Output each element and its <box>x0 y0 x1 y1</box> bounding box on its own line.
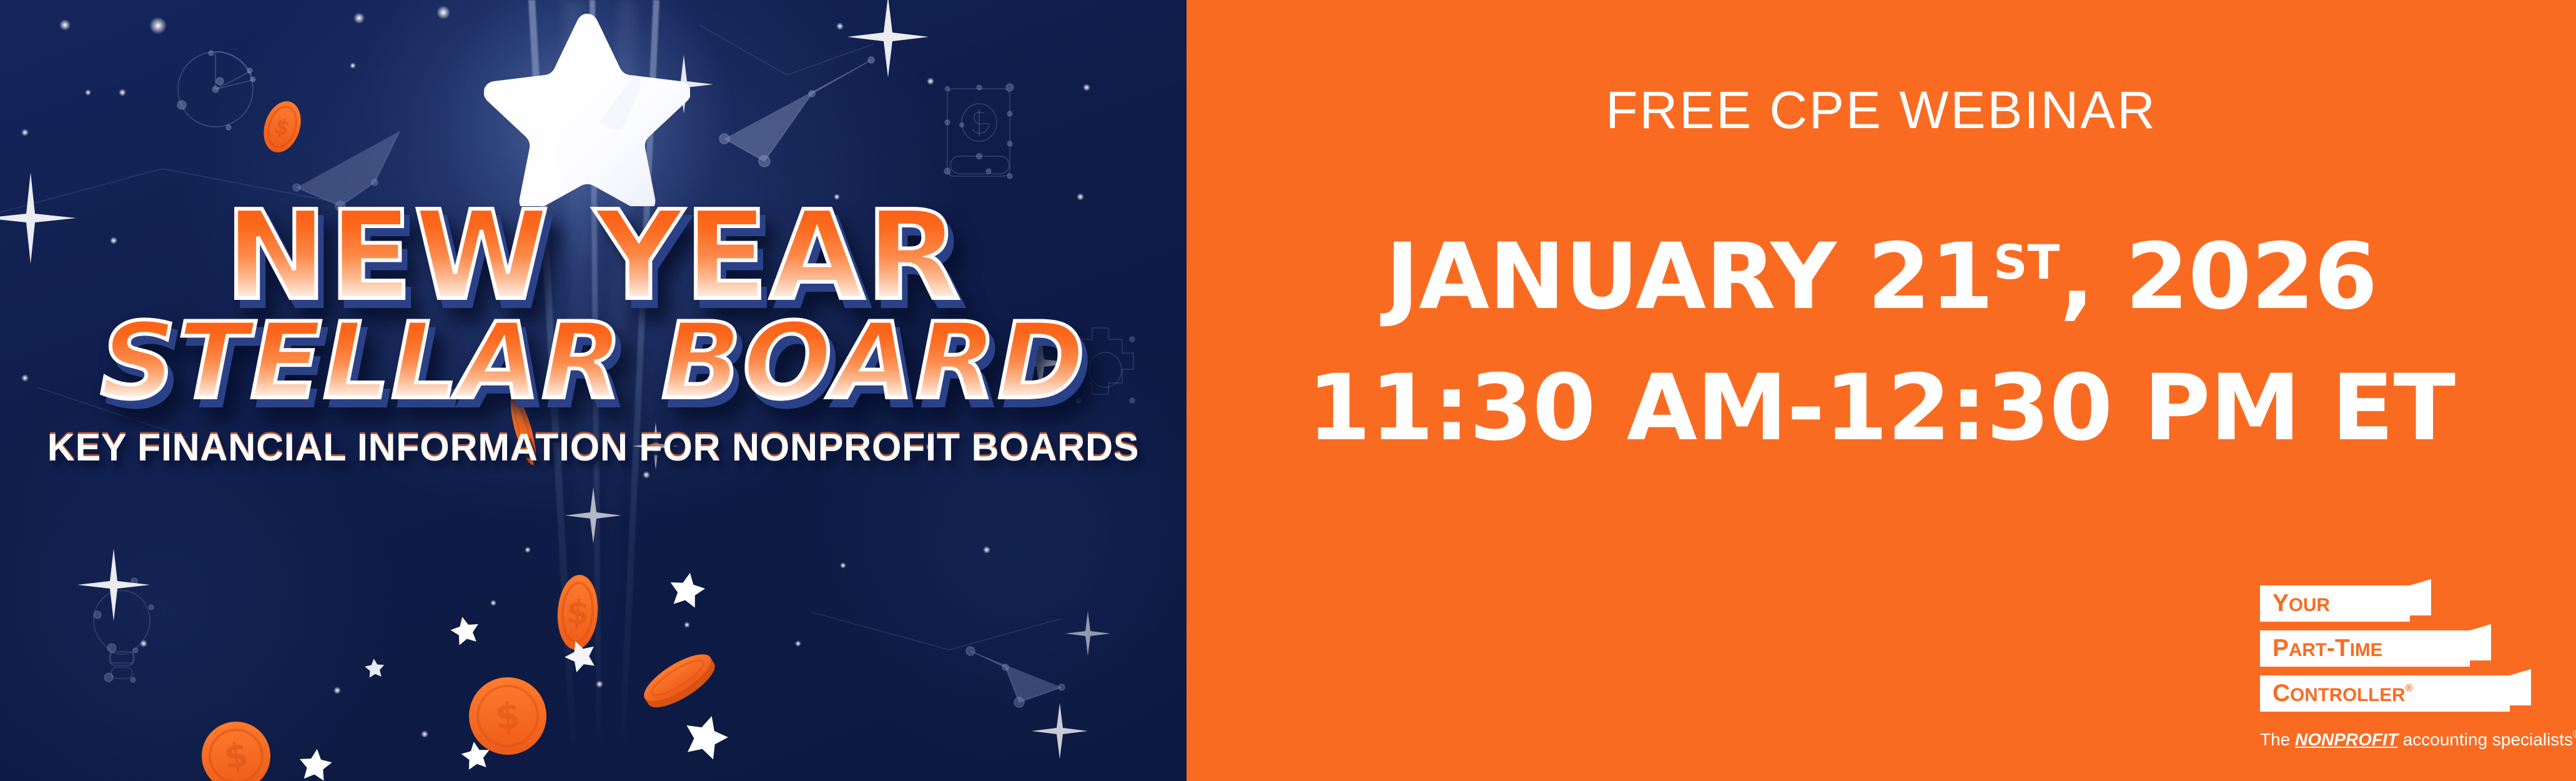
webinar-promo-banner: $ $ $ $ <box>0 0 2576 781</box>
left-artwork-panel: $ $ $ $ <box>0 0 1187 781</box>
webinar-date: JANUARY 21ST, 2026 <box>1187 231 2576 322</box>
tagline-post: accounting specialists <box>2398 730 2573 749</box>
coin-icon: $ <box>555 574 600 651</box>
logo-your-cap: Y <box>2273 590 2289 617</box>
logo-fold-2 <box>2470 624 2491 660</box>
logo-bar-your: YOUR <box>2260 585 2410 622</box>
confetti-layer: $ $ $ $ <box>0 0 1187 781</box>
logo-text-your: YOUR <box>2273 591 2330 615</box>
date-year: , 2026 <box>2060 224 2377 330</box>
logo-time-cap: T <box>2335 635 2350 662</box>
logo-fold-3 <box>2510 669 2531 705</box>
coin-icon: $ <box>257 96 307 157</box>
svg-text:$: $ <box>565 594 590 632</box>
tagline-registered-mark: ® <box>2573 728 2576 740</box>
logo-controller-cap: C <box>2273 680 2290 707</box>
logo-text-part-time: PART-TIME <box>2273 636 2382 660</box>
tagline-pre: The <box>2260 730 2295 749</box>
logo-bar-controller: CONTROLLER® <box>2260 675 2510 712</box>
svg-text:$: $ <box>493 694 521 739</box>
logo-registered-mark: ® <box>2406 683 2413 694</box>
date-main: JANUARY 21 <box>1385 224 1993 330</box>
coin-icon: $ <box>466 675 549 757</box>
tagline-nonprofit: NONPROFIT <box>2295 730 2398 749</box>
logo-your-rest: OUR <box>2289 595 2330 615</box>
webinar-time: 11:30 AM-12:30 PM ET <box>1187 362 2576 454</box>
logo-fold-1 <box>2410 579 2431 615</box>
company-logo[interactable]: YOUR PART-TIME CONTROLLER® The NONPROFIT… <box>2255 585 2520 749</box>
logo-bars: YOUR PART-TIME CONTROLLER® <box>2255 585 2520 720</box>
coin-icon <box>506 393 541 467</box>
logo-part-rest: ART <box>2289 640 2327 660</box>
date-ordinal-suffix: ST <box>1993 235 2060 290</box>
coin-icon <box>638 645 721 715</box>
webinar-type-label: FREE CPE WEBINAR <box>1187 84 2576 136</box>
logo-time-rest: IME <box>2350 640 2383 660</box>
right-details-panel: FREE CPE WEBINAR JANUARY 21ST, 2026 11:3… <box>1187 0 2576 781</box>
logo-tagline: The NONPROFIT accounting specialists® <box>2255 729 2520 749</box>
coin-icon: $ <box>197 717 275 781</box>
logo-part-cap: P <box>2273 635 2289 662</box>
logo-hyphen: - <box>2327 635 2335 662</box>
logo-controller-rest: ONTROLLER <box>2290 685 2405 705</box>
logo-bar-part-time: PART-TIME <box>2260 630 2470 667</box>
logo-text-controller: CONTROLLER® <box>2273 681 2413 705</box>
